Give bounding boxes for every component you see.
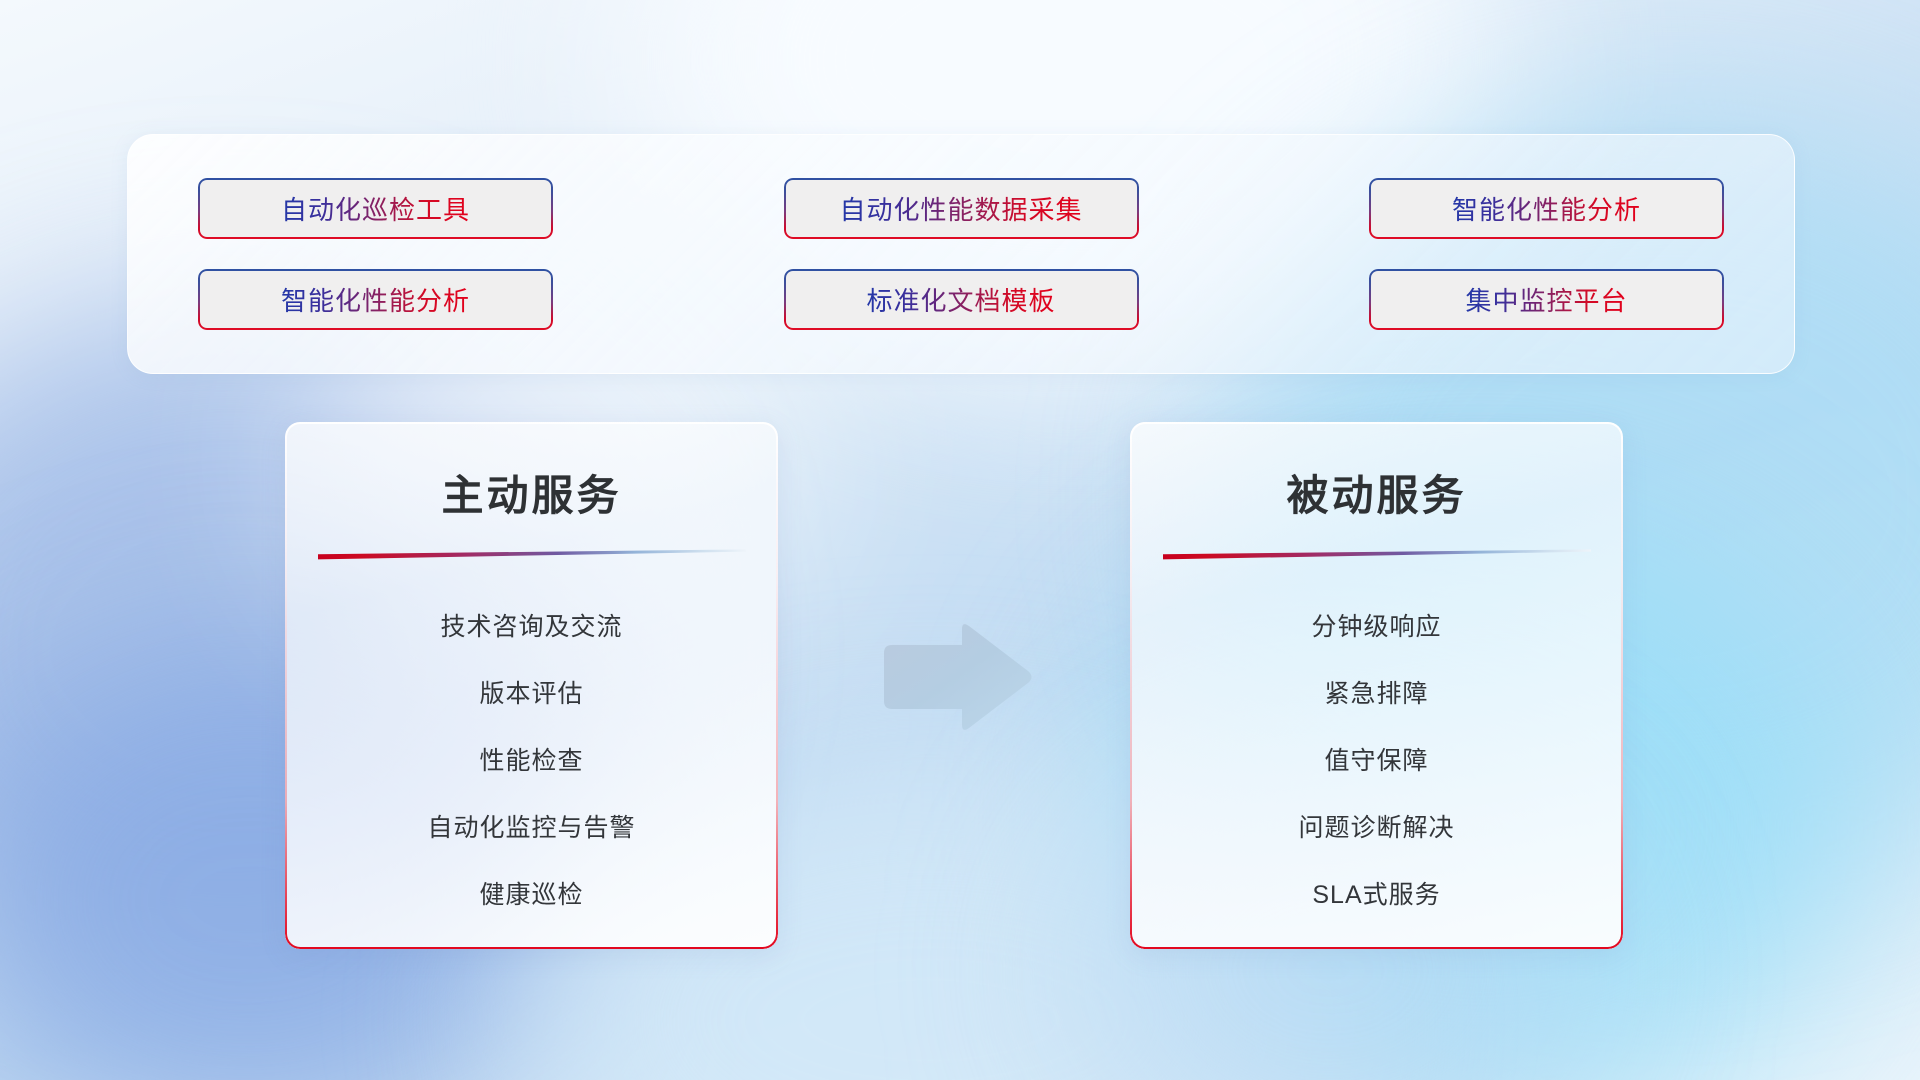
arrow-right-icon — [876, 620, 1036, 735]
capability-row-2: 智能化性能分析 标准化文档模板 集中监控平台 — [198, 269, 1724, 330]
card-title: 被动服务 — [1286, 462, 1466, 523]
capability-pill-automated-performance-data-collection[interactable]: 自动化性能数据采集 — [784, 178, 1139, 239]
capability-pill-automated-inspection-tool[interactable]: 自动化巡检工具 — [198, 178, 553, 239]
capability-pill-label: 自动化巡检工具 — [281, 190, 470, 227]
card-divider — [1163, 547, 1591, 558]
capability-pill-label: 智能化性能分析 — [281, 281, 470, 318]
capability-pill-intelligent-performance-analysis-2[interactable]: 智能化性能分析 — [198, 269, 553, 330]
capability-pill-intelligent-performance-analysis[interactable]: 智能化性能分析 — [1369, 178, 1724, 239]
capability-pill-standardized-document-template[interactable]: 标准化文档模板 — [784, 269, 1139, 330]
list-item: 值守保障 — [1324, 728, 1428, 795]
capability-pill-label: 智能化性能分析 — [1452, 190, 1641, 227]
list-item: 版本评估 — [479, 661, 583, 728]
list-item: 问题诊断解决 — [1298, 795, 1454, 862]
service-card-reactive: 被动服务 分钟级响应 紧急排障 值守保障 问题诊断解决 SLA式服务 — [1130, 422, 1623, 949]
capability-row-1: 自动化巡检工具 自动化性能数据采集 智能化性能分析 — [198, 178, 1724, 239]
list-item: 紧急排障 — [1324, 661, 1428, 728]
capability-pill-label: 集中监控平台 — [1465, 281, 1627, 318]
list-item: 性能检查 — [479, 728, 583, 795]
service-card-proactive: 主动服务 技术咨询及交流 版本评估 性能检查 自动化监控与告警 健康巡检 — [285, 422, 778, 949]
list-item: 自动化监控与告警 — [427, 795, 635, 862]
card-divider — [318, 547, 746, 558]
list-item: SLA式服务 — [1312, 862, 1440, 929]
card-item-list: 分钟级响应 紧急排障 值守保障 问题诊断解决 SLA式服务 — [1130, 594, 1623, 929]
list-item: 分钟级响应 — [1311, 594, 1441, 661]
card-title: 主动服务 — [441, 462, 621, 523]
list-item: 健康巡检 — [479, 862, 583, 929]
capability-pill-label: 标准化文档模板 — [866, 281, 1055, 318]
capability-panel: 自动化巡检工具 自动化性能数据采集 智能化性能分析 智能化性能分析 标准化文档模… — [127, 134, 1795, 374]
list-item: 技术咨询及交流 — [440, 594, 622, 661]
capability-pill-centralized-monitoring-platform[interactable]: 集中监控平台 — [1369, 269, 1724, 330]
card-item-list: 技术咨询及交流 版本评估 性能检查 自动化监控与告警 健康巡检 — [285, 594, 778, 929]
capability-pill-label: 自动化性能数据采集 — [839, 190, 1082, 227]
